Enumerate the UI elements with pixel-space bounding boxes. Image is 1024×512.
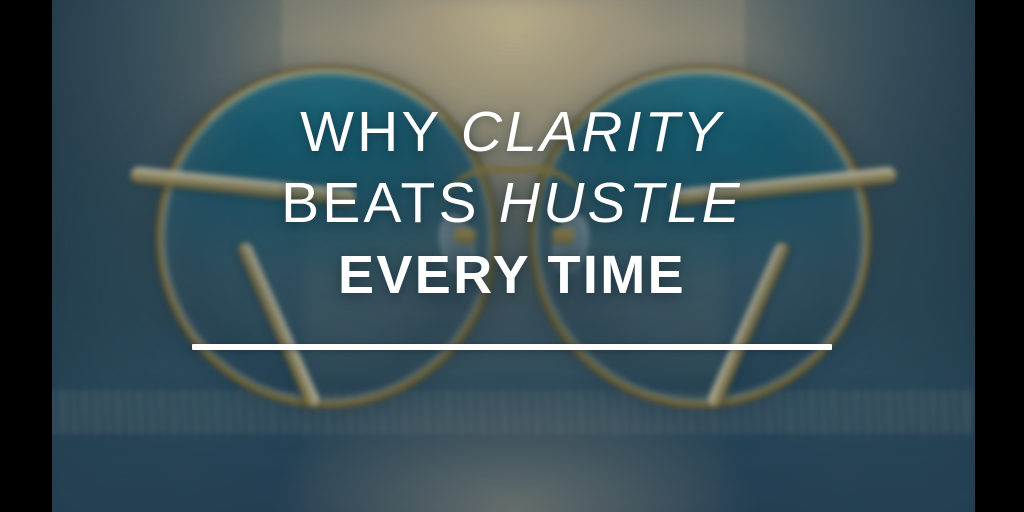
overlay-content: WHY CLARITY BEATS HUSTLE EVERY TIME bbox=[0, 0, 1024, 512]
headline-line-2: BEATS HUSTLE bbox=[0, 175, 1024, 232]
headline-line-3: EVERY TIME bbox=[0, 248, 1024, 302]
headline-line-2-italic: HUSTLE bbox=[499, 171, 743, 235]
headline-line-1-italic: CLARITY bbox=[461, 100, 724, 164]
headline-line-1-regular: WHY bbox=[300, 100, 461, 164]
headline-block: WHY CLARITY BEATS HUSTLE EVERY TIME bbox=[0, 104, 1024, 302]
headline-line-2-regular: BEATS bbox=[281, 171, 499, 235]
headline-line-1: WHY CLARITY bbox=[0, 104, 1024, 161]
promo-banner: WHY CLARITY BEATS HUSTLE EVERY TIME bbox=[0, 0, 1024, 512]
headline-divider bbox=[192, 344, 832, 350]
